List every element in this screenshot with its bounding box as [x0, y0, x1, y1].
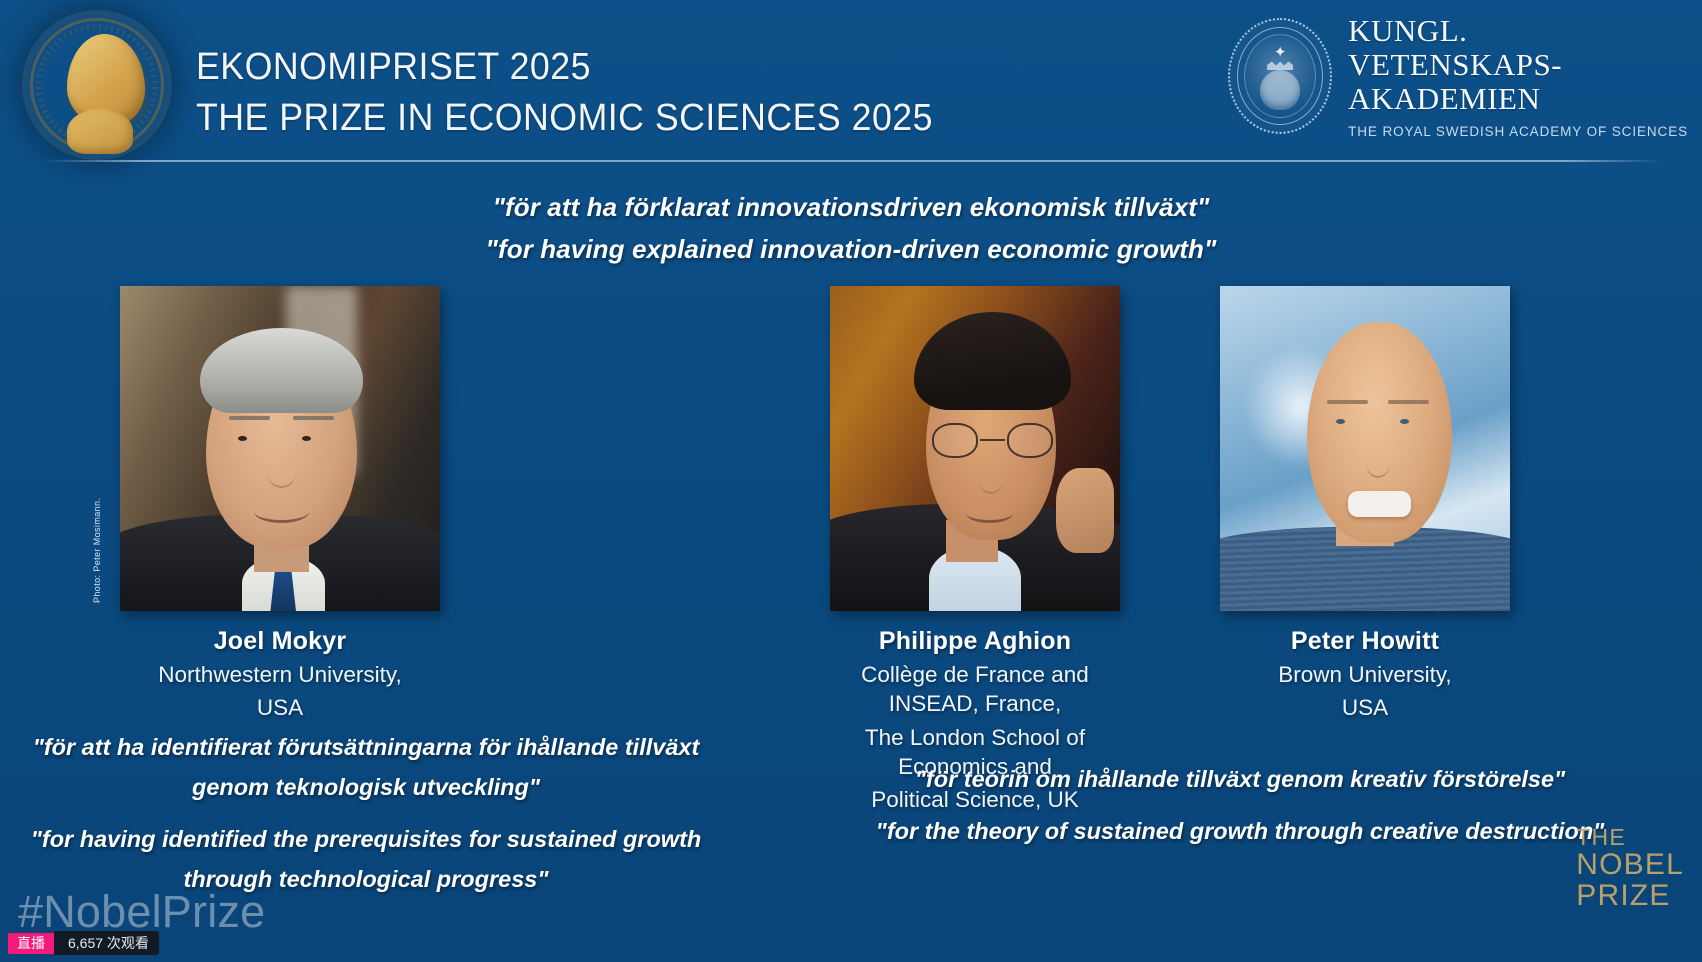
citation-left-swedish-line1: "för att ha identifierat förutsättningar…	[10, 728, 722, 768]
photo-mouth	[254, 501, 308, 524]
photo-eye-left	[238, 436, 247, 441]
laureate-name-0: Joel Mokyr	[120, 627, 440, 656]
watermark-line-1: THE	[1576, 826, 1684, 850]
laureate-affiliation-0-line2: USA	[120, 693, 440, 722]
laureate-photo-philippe-aghion	[830, 286, 1120, 611]
academy-subtitle: THE ROYAL SWEDISH ACADEMY OF SCIENCES	[1348, 124, 1688, 139]
photo-glasses-icon	[932, 423, 1054, 459]
laureate-card-2: Peter Howitt Brown University, USA	[1220, 286, 1510, 723]
photo-brow-left	[229, 416, 271, 420]
laureate-photo-wrap-0: Photo: Peter Mosimann.	[120, 286, 440, 611]
title-swedish: EKONOMIPRISET 2025	[196, 42, 933, 93]
watermark-line-2: NOBEL	[1576, 850, 1684, 881]
photo-brow-right	[1388, 400, 1429, 404]
nobel-medal-icon	[22, 10, 172, 160]
laureate-name-1: Philippe Aghion	[830, 627, 1120, 656]
laureate-photo-peter-howitt	[1220, 286, 1510, 611]
laureate-affiliation-2-line2: USA	[1220, 693, 1510, 722]
academy-wordmark: KUNGL. VETENSKAPS- AKADEMIEN THE ROYAL S…	[1348, 14, 1688, 139]
laureate-list: Photo: Peter Mosimann. Joel Mokyr Northw…	[0, 286, 1702, 726]
photo-brow-left	[1327, 400, 1368, 404]
photo-credit-0: Photo: Peter Mosimann.	[92, 498, 102, 603]
broadcast-slide: EKONOMIPRISET 2025 THE PRIZE IN ECONOMIC…	[0, 0, 1702, 962]
laureate-photo-wrap-2	[1220, 286, 1510, 611]
live-stream-status-bar[interactable]: 直播 6,657 次观看	[8, 930, 159, 956]
seal-crown-icon	[1267, 61, 1293, 70]
title-english: THE PRIZE IN ECONOMIC SCIENCES 2025	[196, 93, 933, 144]
citation-right-english: "for the theory of sustained growth thro…	[770, 812, 1702, 852]
laureate-affiliation-2-line1: Brown University,	[1220, 660, 1510, 689]
photo-mouth	[966, 504, 1012, 524]
photo-hand	[1056, 468, 1114, 553]
citation-right-swedish: "för teorin om ihållande tillväxt genom …	[770, 760, 1702, 800]
photo-nose	[267, 455, 296, 488]
view-count-label: 6,657 次观看	[54, 931, 159, 955]
photo-eye-right	[302, 436, 311, 441]
live-badge: 直播	[8, 933, 54, 954]
photo-brow-right	[293, 416, 335, 420]
slide-header: EKONOMIPRISET 2025 THE PRIZE IN ECONOMIC…	[0, 0, 1702, 178]
citation-left: "för att ha identifierat förutsättningar…	[10, 728, 722, 900]
laureate-affiliation-0-line1: Northwestern University,	[120, 660, 440, 689]
header-divider	[42, 160, 1662, 162]
seal-face-icon	[1260, 70, 1300, 110]
seal-star-icon: ✦	[1274, 45, 1287, 60]
laureate-photo-joel-mokyr	[120, 286, 440, 611]
nobel-prize-watermark: THE NOBEL PRIZE	[1576, 826, 1684, 911]
academy-line-3: AKADEMIEN	[1348, 82, 1688, 116]
photo-nose	[1365, 442, 1391, 478]
citation-left-english-line1: "for having identified the prerequisites…	[10, 820, 722, 860]
medal-bust	[67, 109, 133, 154]
watermark-line-3: PRIZE	[1576, 881, 1684, 912]
main-citation-swedish: "för att ha förklarat innovationsdriven …	[0, 186, 1702, 228]
main-citation: "för att ha förklarat innovationsdriven …	[0, 186, 1702, 270]
academy-seal-icon: ✦	[1228, 18, 1332, 134]
citation-right: "för teorin om ihållande tillväxt genom …	[770, 760, 1702, 852]
laureate-affiliation-1-line1: Collège de France and INSEAD, France,	[830, 660, 1120, 719]
photo-smile	[1348, 491, 1412, 517]
academy-logo: ✦ KUNGL. VETENSKAPS- AKADEMIEN THE ROYAL…	[1228, 14, 1688, 139]
citation-left-swedish-line2: genom teknologisk utveckling"	[10, 768, 722, 808]
laureate-photo-wrap-1	[830, 286, 1120, 611]
academy-line-2: VETENSKAPS-	[1348, 48, 1688, 82]
academy-line-1: KUNGL.	[1348, 14, 1688, 48]
main-citation-english: "for having explained innovation-driven …	[0, 228, 1702, 270]
page-title: EKONOMIPRISET 2025 THE PRIZE IN ECONOMIC…	[196, 42, 980, 144]
laureate-card-0: Photo: Peter Mosimann. Joel Mokyr Northw…	[120, 286, 440, 723]
photo-nose	[978, 462, 1004, 495]
laureate-name-2: Peter Howitt	[1220, 627, 1510, 656]
laureate-card-1: Philippe Aghion Collège de France and IN…	[830, 286, 1120, 814]
